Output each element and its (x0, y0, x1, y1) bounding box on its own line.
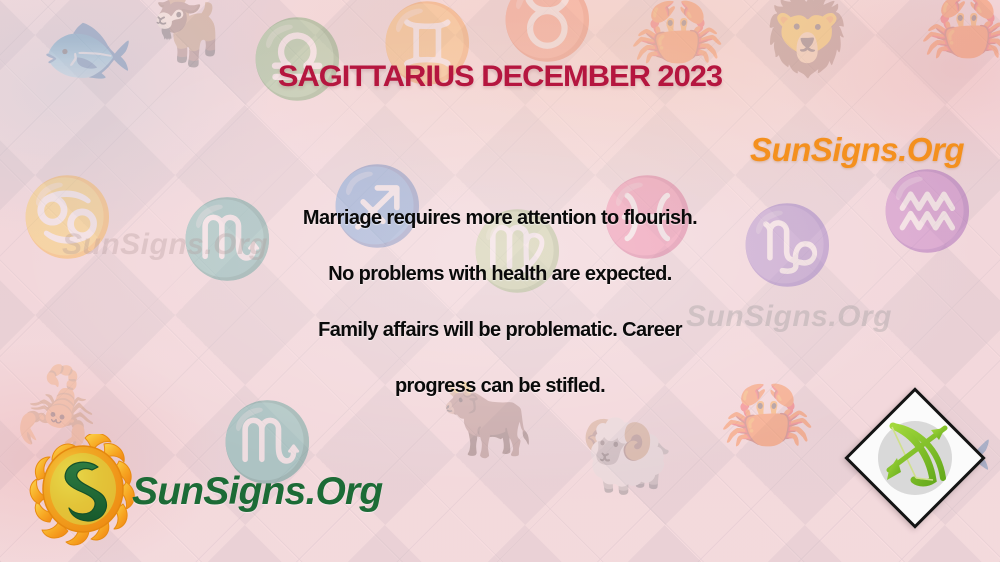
horoscope-line: Marriage requires more attention to flou… (26, 190, 974, 246)
horoscope-line: No problems with health are expected. (26, 246, 974, 302)
sun-logo-icon (28, 434, 144, 546)
horoscope-line: Family affairs will be problematic. Care… (26, 302, 974, 358)
sunsigns-logo[interactable]: SunSigns.Org (28, 430, 378, 550)
horoscope-line: progress can be stifled. (26, 358, 974, 414)
horoscope-banner: 🐟🐐♎♊♉🦀🦁🦀♋♏♐♍♓♑♒🦂♏🐂🐏🦀🐟 SunSigns.Org SunSi… (0, 0, 1000, 562)
brand-label-top: SunSigns.Org (750, 131, 964, 169)
sagittarius-bow-arrow-icon (867, 410, 963, 506)
page-title: SAGITTARIUS DECEMBER 2023 (0, 62, 1000, 92)
horoscope-text: Marriage requires more attention to flou… (26, 190, 974, 414)
zodiac-sign-badge[interactable] (845, 388, 985, 528)
logo-text: SunSigns.Org (132, 470, 382, 514)
